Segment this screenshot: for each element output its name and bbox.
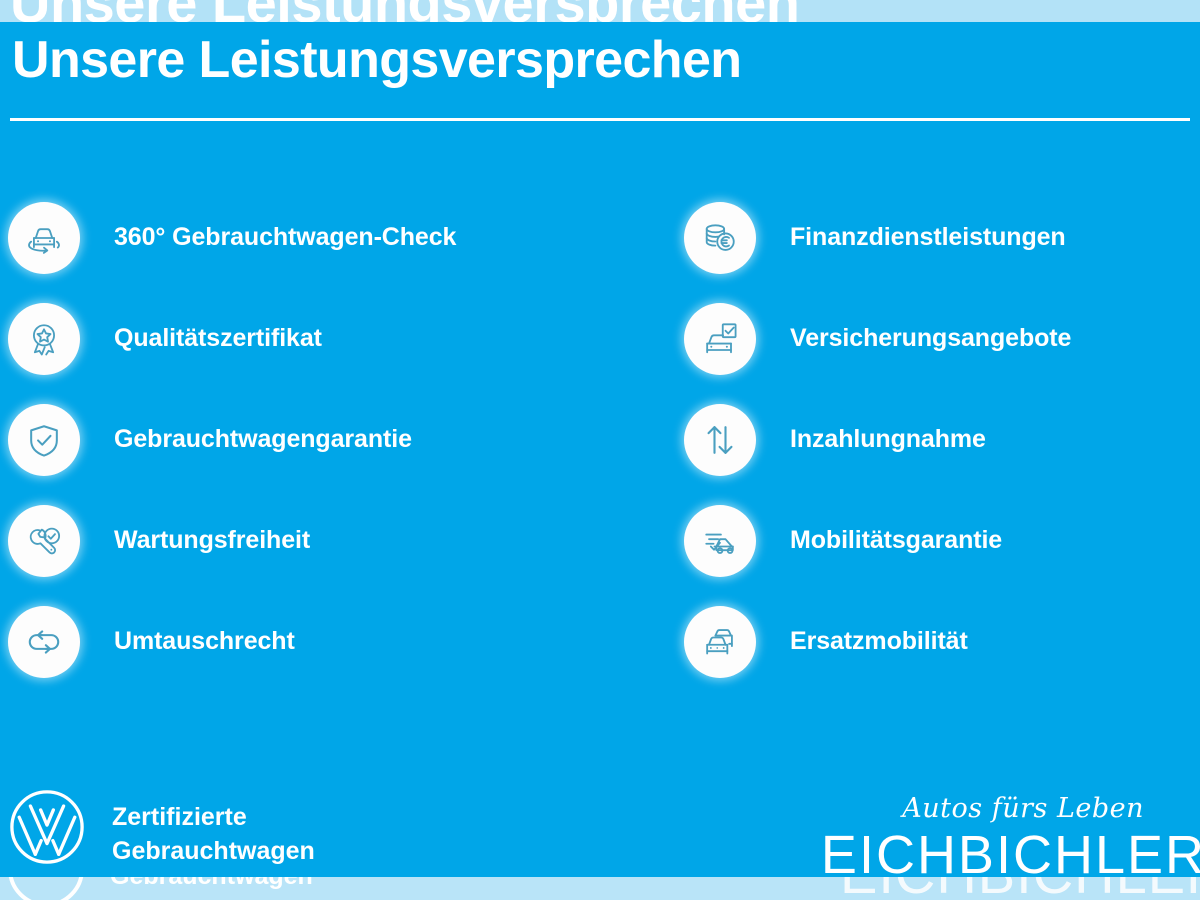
certified-line-2: Gebrauchtwagen <box>112 834 315 868</box>
award-medal-star-icon <box>8 303 80 375</box>
feature-label: Mobilitätsgarantie <box>790 526 1002 555</box>
feature-item-financial-services: Finanzdienstleistungen <box>684 202 1200 303</box>
shield-check-icon <box>8 404 80 476</box>
feature-label: Versicherungsangebote <box>790 324 1071 353</box>
feature-label: Wartungsfreiheit <box>114 526 310 555</box>
dealer-claim: Autos fürs Leben <box>780 792 1200 826</box>
feature-item-exchange-right: Umtauschrecht <box>8 606 568 707</box>
feature-label: Qualitätszertifikat <box>114 324 322 353</box>
main-canvas: Unsere Leistungsversprechen <box>0 22 1200 877</box>
dealer-branding: Autos fürs Leben EICHBICHLER <box>780 792 1200 877</box>
feature-label: 360° Gebrauchtwagen-Check <box>114 223 456 252</box>
feature-label: Gebrauchtwagengarantie <box>114 425 412 454</box>
arrows-up-down-icon <box>684 404 756 476</box>
feature-item-mobility-guarantee: Mobilitätsgarantie <box>684 505 1200 606</box>
wrench-check-icon <box>8 505 80 577</box>
feature-item-insurance-offers: Versicherungsangebote <box>684 303 1200 404</box>
car-speed-lines-icon <box>684 505 756 577</box>
feature-item-warranty: Gebrauchtwagengarantie <box>8 404 568 505</box>
car-document-check-icon <box>684 303 756 375</box>
exchange-arrows-icon <box>8 606 80 678</box>
ghost-dealer-name: EICHBICHLER <box>840 877 1200 900</box>
feature-label: Finanzdienstleistungen <box>790 223 1066 252</box>
feature-label: Ersatzmobilität <box>790 627 968 656</box>
ghost-certified-text: Zertifizierte Gebrauchtwagen <box>110 877 313 893</box>
volkswagen-logo-icon <box>8 788 86 866</box>
feature-item-maintenance-free: Wartungsfreiheit <box>8 505 568 606</box>
feature-item-trade-in: Inzahlungnahme <box>684 404 1200 505</box>
coins-euro-icon <box>684 202 756 274</box>
feature-item-360-check: 360° Gebrauchtwagen-Check <box>8 202 568 303</box>
two-cars-icon <box>684 606 756 678</box>
ghost-title-text: Unsere Leistungsversprechen <box>10 0 799 22</box>
dealer-name: EICHBICHLER <box>780 826 1200 877</box>
certified-used-cars-text: Zertifizierte Gebrauchtwagen <box>112 800 315 868</box>
ghost-certified-line-2: Gebrauchtwagen <box>110 877 313 893</box>
feature-label: Umtauschrecht <box>114 627 295 656</box>
ghost-band-top: Unsere Leistungsversprechen <box>0 0 1200 22</box>
ghost-volkswagen-logo-icon <box>8 877 84 900</box>
certified-line-1: Zertifizierte <box>112 800 315 834</box>
feature-column-right: Finanzdienstleistungen <box>684 202 1200 707</box>
car-360-rotation-icon <box>8 202 80 274</box>
promo-graphic: Unsere Leistungsversprechen Unsere Leist… <box>0 0 1200 900</box>
feature-label: Inzahlungnahme <box>790 425 986 454</box>
page-title: Unsere Leistungsversprechen <box>12 22 741 98</box>
feature-item-replacement-mobility: Ersatzmobilität <box>684 606 1200 707</box>
ghost-band-bottom: Zertifizierte Gebrauchtwagen EICHBICHLER <box>0 877 1200 900</box>
feature-column-left: 360° Gebrauchtwagen-Check Qualitätszerti… <box>8 202 568 707</box>
feature-item-quality-certificate: Qualitätszertifikat <box>8 303 568 404</box>
title-divider <box>10 118 1190 121</box>
footer: Zertifizierte Gebrauchtwagen Autos fürs … <box>0 782 1200 877</box>
